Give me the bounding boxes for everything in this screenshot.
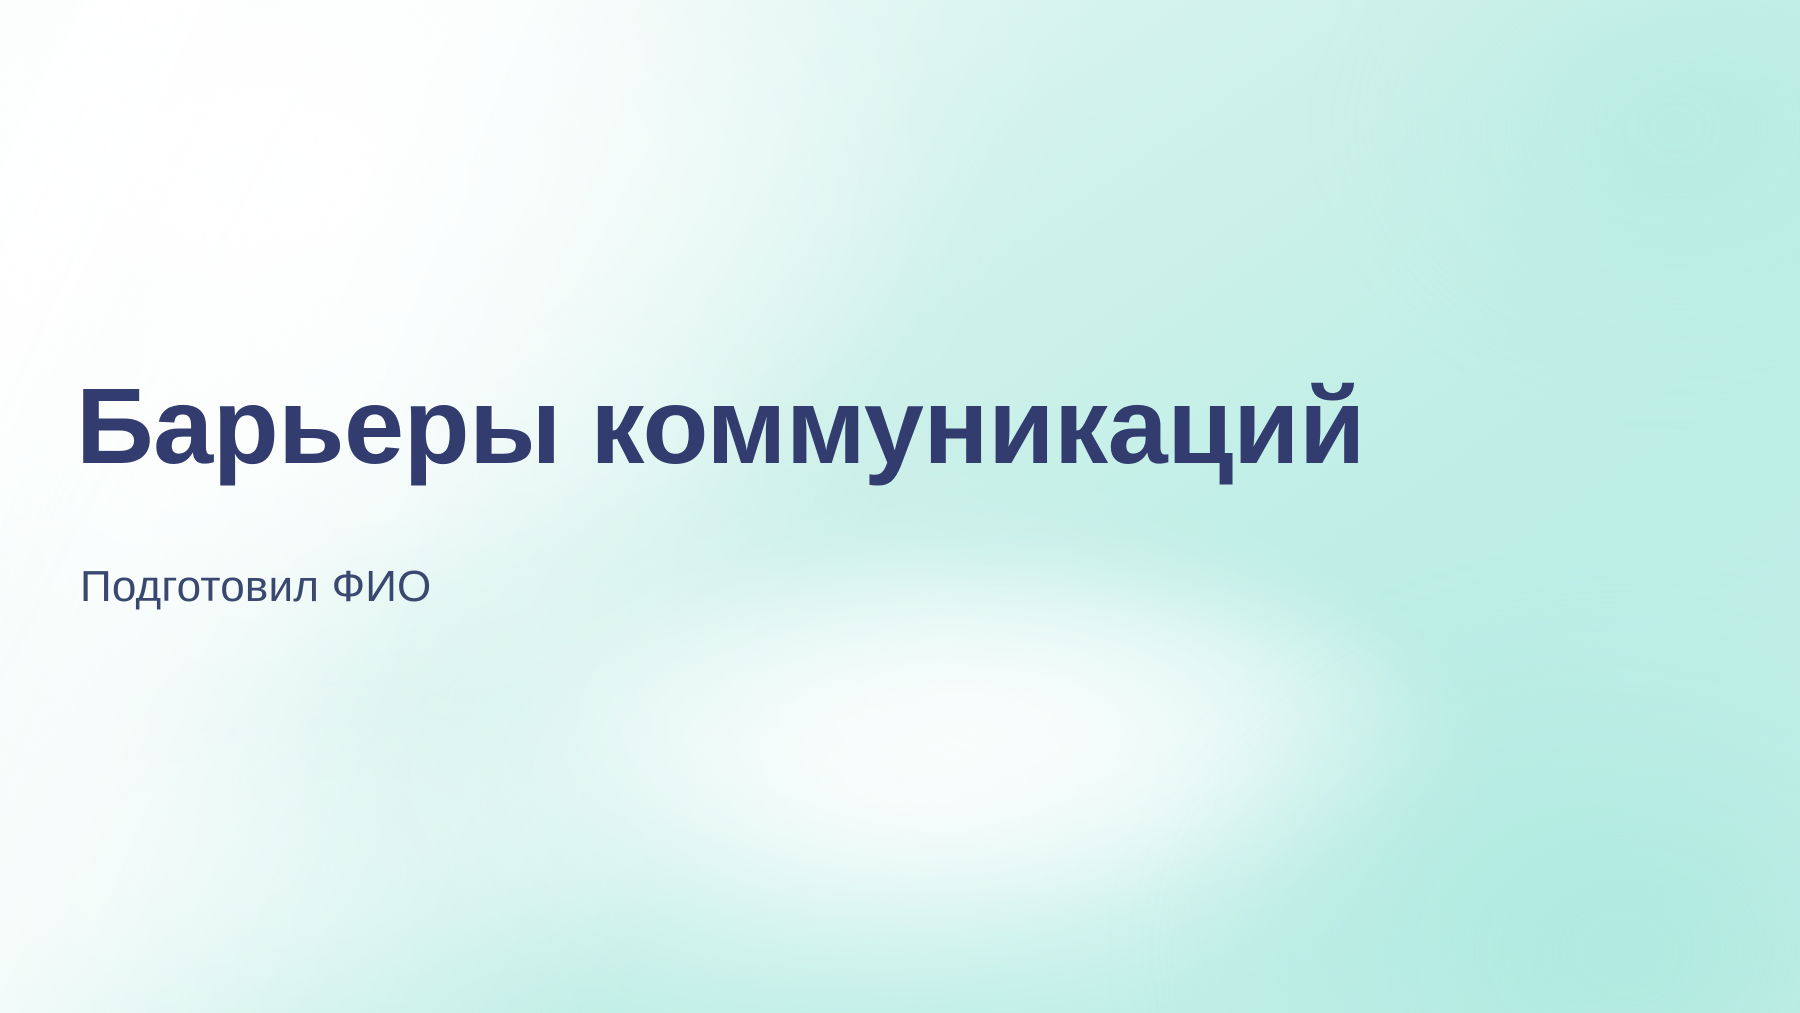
slide-subtitle-author: Подготовил ФИО [80,563,431,611]
slide-title: Барьеры коммуникаций [76,372,1365,480]
title-slide: Барьеры коммуникаций Подготовил ФИО [0,0,1800,1013]
slide-text-block: Барьеры коммуникаций Подготовил ФИО [76,0,1716,1013]
